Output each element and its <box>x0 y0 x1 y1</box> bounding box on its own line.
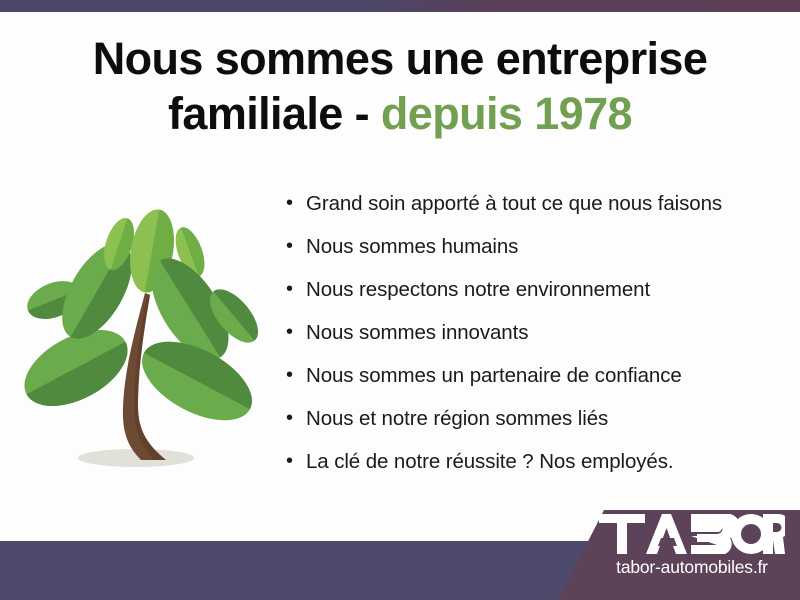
bullet-marker-icon: • <box>286 408 306 429</box>
list-item: • Nous sommes un partenaire de confiance <box>286 365 786 408</box>
tabor-wordmark-icon <box>599 514 785 554</box>
bullet-marker-icon: • <box>286 322 306 343</box>
tree-illustration <box>14 196 264 486</box>
title-line-1: Nous sommes une entreprise <box>0 32 800 85</box>
title-line-2-prefix: familiale - <box>168 88 369 139</box>
list-item-label: Grand soin apporté à tout ce que nous fa… <box>306 193 722 215</box>
list-item-label: Nous respectons notre environnement <box>306 279 650 301</box>
bullet-marker-icon: • <box>286 193 306 214</box>
bullet-marker-icon: • <box>286 236 306 257</box>
brand-logo: tabor-automobiles.fr <box>592 514 792 590</box>
list-item: • Nous sommes innovants <box>286 322 786 365</box>
list-item-label: La clé de notre réussite ? Nos employés. <box>306 451 673 473</box>
bullet-marker-icon: • <box>286 451 306 472</box>
title-line-2: familiale - depuis 1978 <box>0 87 800 140</box>
list-item: • Grand soin apporté à tout ce que nous … <box>286 193 786 236</box>
list-item: • Nous sommes humains <box>286 236 786 279</box>
value-proposition-list: • Grand soin apporté à tout ce que nous … <box>286 193 786 494</box>
list-item-label: Nous sommes innovants <box>306 322 528 344</box>
list-item: • Nous respectons notre environnement <box>286 279 786 322</box>
bullet-marker-icon: • <box>286 279 306 300</box>
list-item-label: Nous et notre région sommes liés <box>306 408 608 430</box>
list-item-label: Nous sommes humains <box>306 236 518 258</box>
bullet-marker-icon: • <box>286 365 306 386</box>
list-item: • La clé de notre réussite ? Nos employé… <box>286 451 786 494</box>
top-gradient-strip <box>0 0 800 12</box>
page-title: Nous sommes une entreprise familiale - d… <box>0 32 800 140</box>
brand-tagline: tabor-automobiles.fr <box>592 557 792 578</box>
slide-canvas: Nous sommes une entreprise familiale - d… <box>0 0 800 600</box>
list-item-label: Nous sommes un partenaire de confiance <box>306 365 682 387</box>
title-accent-year: depuis 1978 <box>381 88 632 139</box>
list-item: • Nous et notre région sommes liés <box>286 408 786 451</box>
